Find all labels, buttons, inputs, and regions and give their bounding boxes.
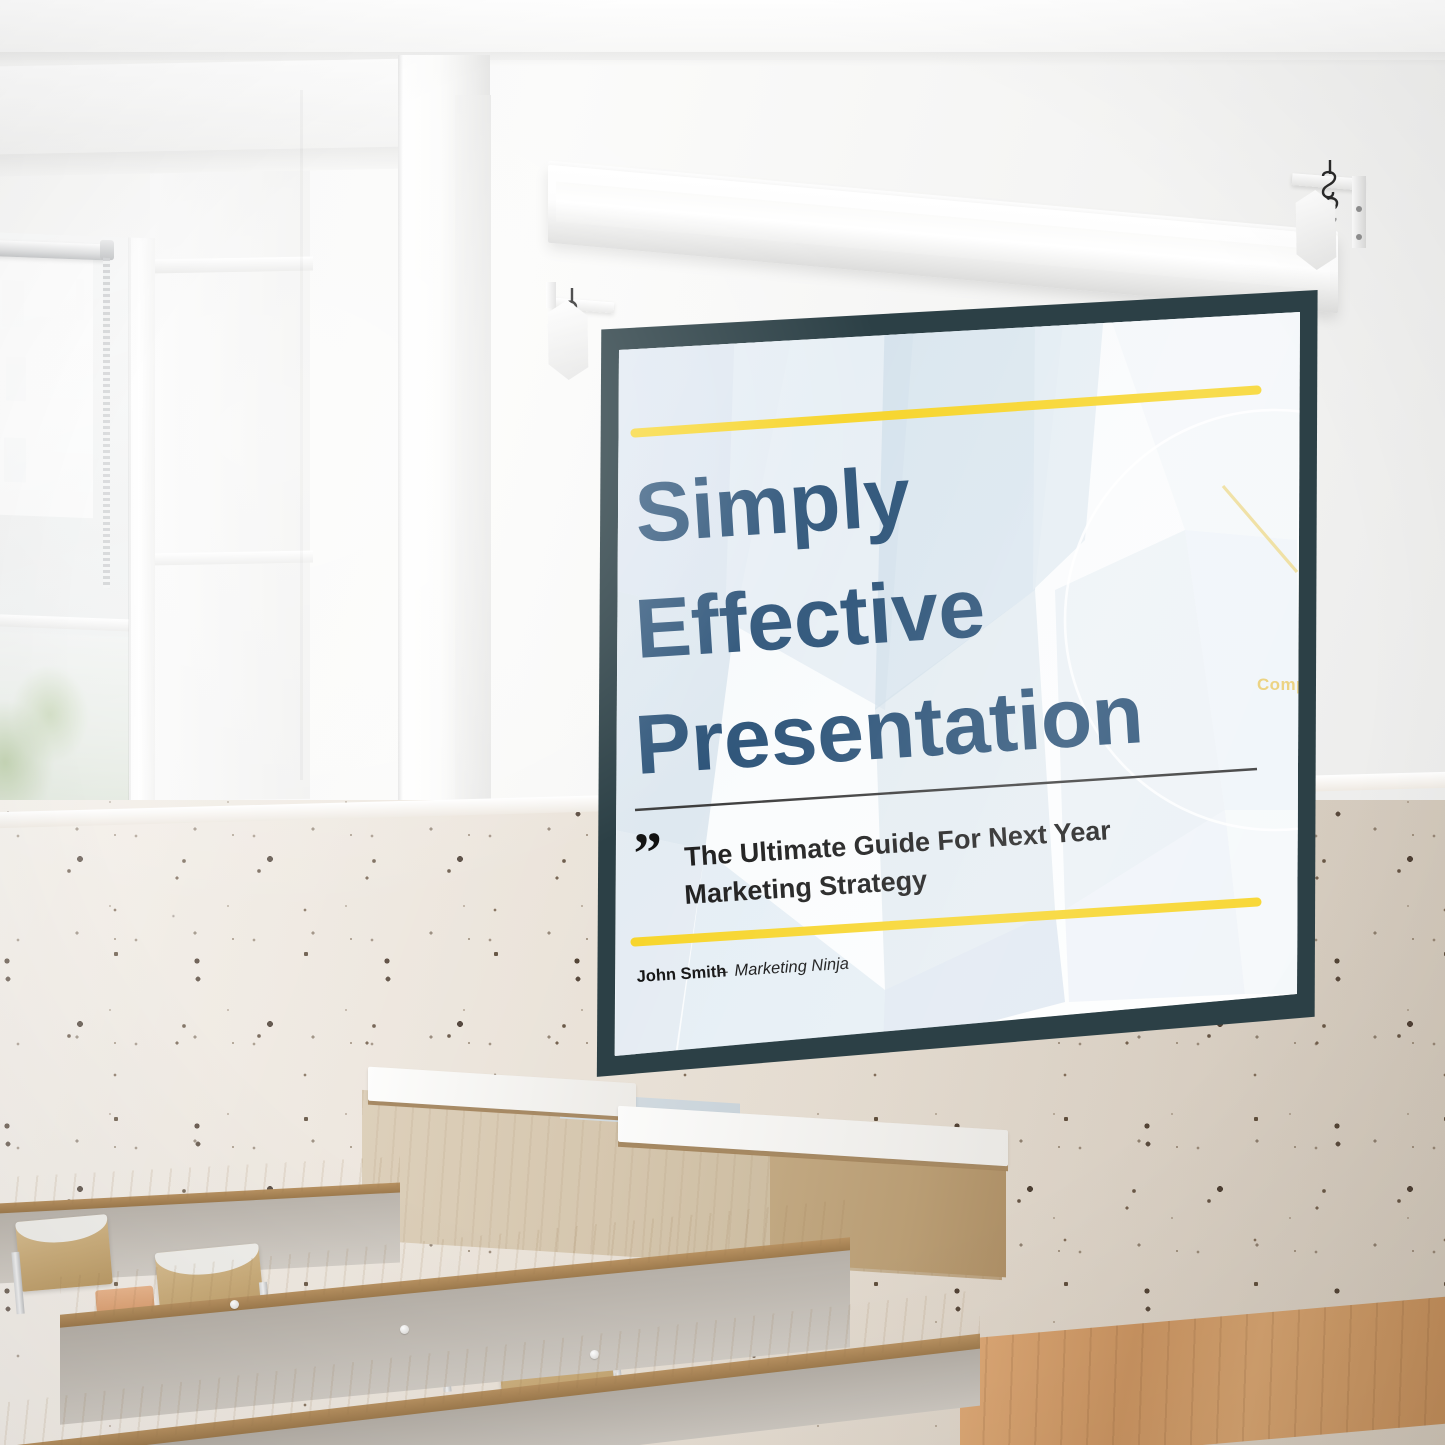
- quote-mark-icon: ”: [632, 819, 665, 886]
- bracket-screw-icon: [1356, 234, 1362, 240]
- title-line-1: Simply: [632, 449, 913, 560]
- bracket-screw-icon: [1356, 206, 1362, 212]
- classroom-scene: Company Simply Effective Presentation ” …: [0, 0, 1445, 1445]
- window-bay-return: [150, 79, 310, 801]
- left-wall-bracket-plate: [546, 282, 556, 308]
- ceiling: [0, 0, 1445, 60]
- bay-ledge-upper: [148, 257, 313, 274]
- wall-seam: [300, 90, 303, 780]
- roller-blind-fabric[interactable]: [0, 254, 93, 519]
- company-watermark: Company: [1257, 675, 1325, 694]
- desk-fitting-icon: [230, 1300, 239, 1309]
- desk-fitting-icon: [400, 1325, 409, 1334]
- roller-blind-chain[interactable]: [103, 258, 110, 588]
- wall-pilaster-notch: [455, 95, 491, 815]
- presentation-slide[interactable]: Company Simply Effective Presentation ” …: [585, 290, 1325, 1080]
- wall-pilaster-edge: [398, 55, 403, 875]
